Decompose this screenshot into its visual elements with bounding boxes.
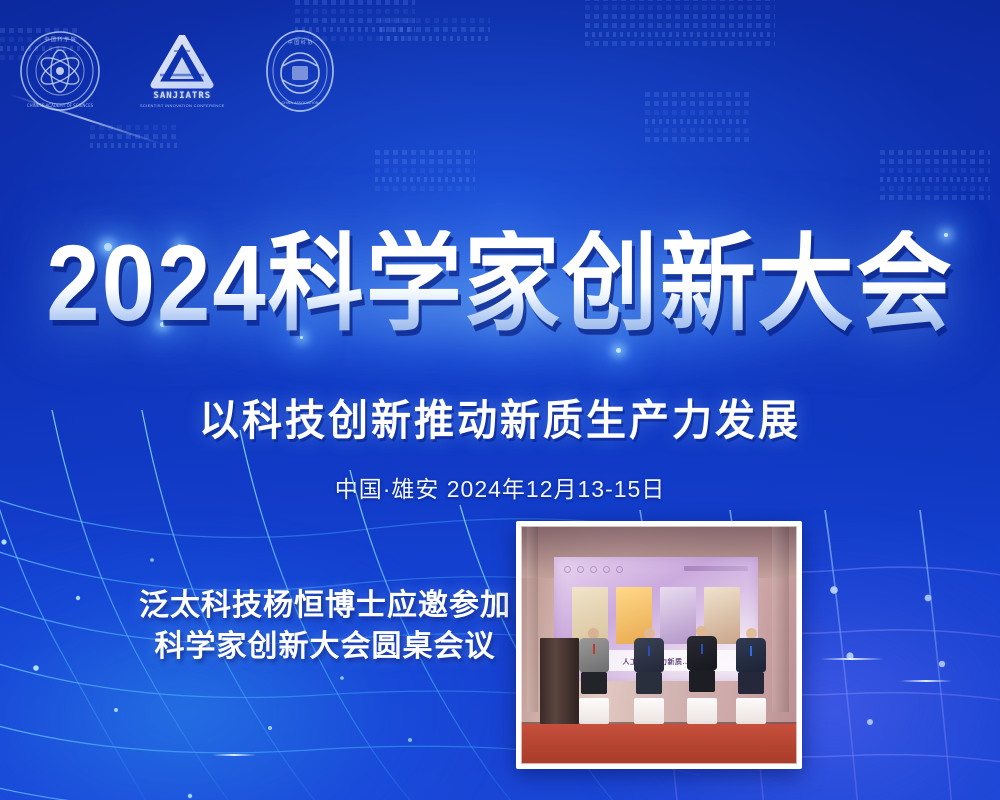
panelist-1-legs (581, 672, 607, 694)
chair-3 (687, 698, 717, 724)
data-block-decor-2 (585, 0, 775, 50)
screen-icon-2 (577, 566, 584, 573)
screen-icon-4 (603, 566, 610, 573)
chair-4 (736, 698, 766, 724)
panelist-3 (687, 626, 717, 724)
panelist-4-legs (738, 672, 764, 694)
data-block-decor-8 (90, 125, 180, 152)
oval-institute-logo: 中 国 科 协 CHINA ASSOCIATION (263, 28, 337, 114)
panel-discussion-photo[interactable]: 人工智能助力新质... (516, 521, 802, 769)
screen-icon-1 (564, 566, 571, 573)
caption-line-1: 泛太科技杨恒博士应邀参加 (130, 585, 520, 626)
svg-text:CHINA ASSOCIATION: CHINA ASSOCIATION (281, 101, 318, 105)
triangle-mark-logo: SANJIATRS SCIENTIST INNOVATION CONFERENC… (140, 35, 225, 108)
panelist-3-badge (701, 644, 703, 654)
data-block-decor-6 (375, 150, 475, 195)
triangle-logo-tagline: SCIENTIST INNOVATION CONFERENCE (140, 104, 225, 108)
podium (540, 638, 579, 724)
panelist-3-legs (689, 670, 715, 692)
svg-text:中 国 科 学 院: 中 国 科 学 院 (44, 36, 75, 43)
data-block-decor-7 (880, 150, 990, 204)
light-streak-4 (900, 680, 952, 682)
panelist-2 (634, 628, 664, 723)
panelist-4-badge (750, 646, 752, 656)
logo-row: 中 国 科 学 院 CHINESE ACADEMY OF SCIENCES SA… (18, 28, 337, 114)
panelist-1 (579, 628, 609, 723)
svg-text:中 国 科 协: 中 国 科 协 (287, 39, 312, 46)
event-caption: 泛太科技杨恒博士应邀参加 科学家创新大会圆桌会议 (130, 585, 520, 668)
screen-brand-mark (684, 566, 748, 571)
triangle-logo-wordmark: SANJIATRS (153, 92, 211, 101)
photo-pillar-left (527, 526, 538, 712)
caption-line-2: 科学家创新大会圆桌会议 (130, 626, 520, 667)
screen-icon-3 (590, 566, 597, 573)
light-streak-5 (212, 754, 256, 756)
panelist-1-badge (593, 644, 595, 654)
data-block-decor-3 (380, 18, 490, 45)
panelist-4 (736, 628, 766, 723)
poster-canvas: 中 国 科 学 院 CHINESE ACADEMY OF SCIENCES SA… (0, 0, 1000, 800)
photo-pillar-right (772, 526, 789, 712)
screen-icon-5 (616, 566, 623, 573)
data-block-decor-5 (645, 92, 750, 146)
panelist-2-legs (636, 672, 662, 694)
page-title: 2024科学家创新大会 (0, 230, 1000, 338)
photo-content: 人工智能助力新质... (521, 526, 797, 764)
light-streak-3 (820, 658, 884, 660)
sparkle-5 (616, 348, 621, 353)
panelist-2-badge (648, 646, 650, 656)
chair-1 (579, 698, 609, 724)
screen-icon-row (564, 566, 623, 573)
chair-2 (634, 698, 664, 724)
stage-floor (521, 724, 797, 764)
